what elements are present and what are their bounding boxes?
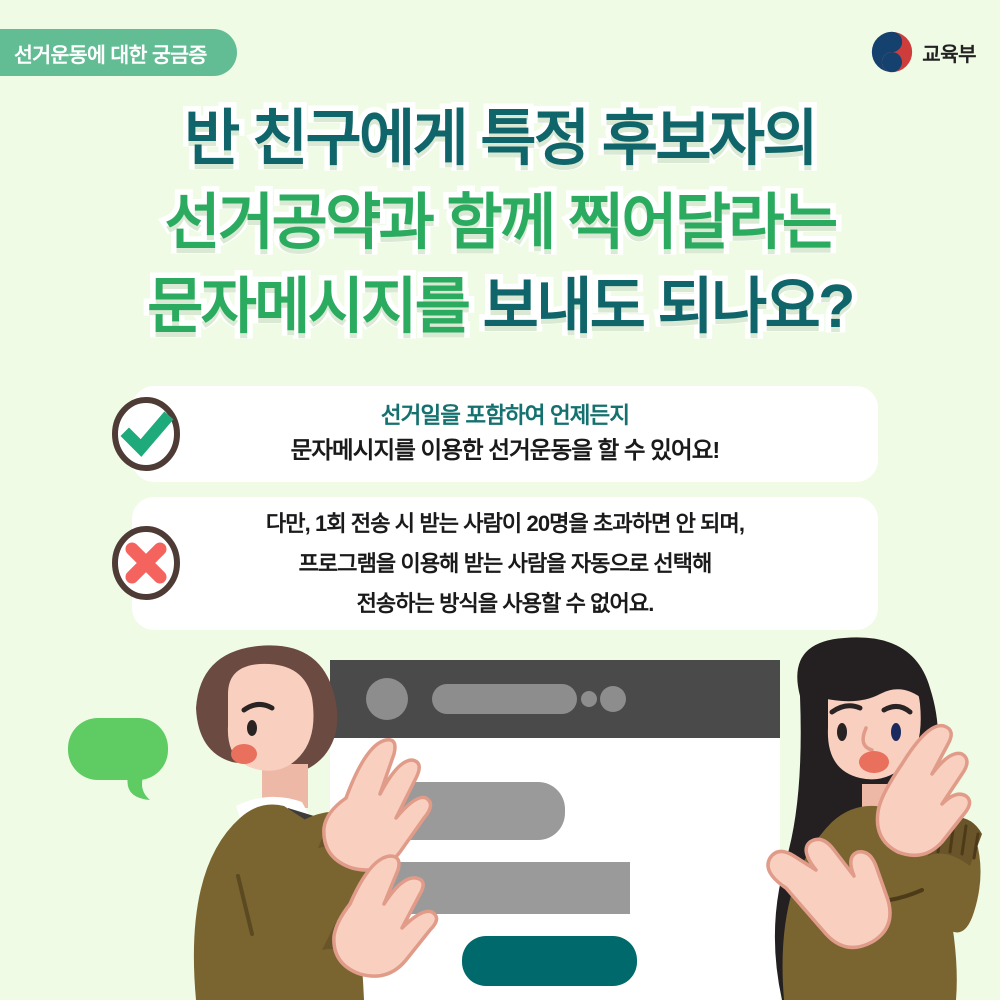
right-woman-eye-left [837, 723, 847, 741]
mockup-dot-small [581, 691, 597, 707]
left-woman-eye [247, 720, 257, 736]
illustration-two-women-whispering [0, 636, 1000, 1000]
allowed-card-body-line-1: 문자메시지를 이용한 선거운동을 할 수 있어요! [291, 432, 720, 468]
headline-line-1-text: 반 친구에게 특정 후보자의 [184, 104, 816, 172]
allowed-card-headline: 선거일을 포함하여 언제든지 [381, 400, 629, 432]
headline-line-3-green-text: 문자메시지를 [147, 272, 468, 340]
not-allowed-card-body-line-1: 다만, 1회 전송 시 받는 사람이 20명을 초과하면 안 되며, [266, 504, 744, 544]
check-mark-icon [110, 395, 182, 473]
right-woman-mouth [859, 751, 889, 773]
mockup-dot-large [600, 686, 626, 712]
headline-line-2-text: 선거공약과 함께 찍어달라는 [165, 188, 836, 256]
mockup-message-bubble-teal [462, 936, 637, 986]
category-badge: 선거운동에 대한 궁금증 [0, 29, 237, 76]
not-allowed-card-body-line-2: 프로그램을 이용해 받는 사람을 자동으로 선택해 [299, 544, 712, 584]
ministry-logo-label: 교육부 [922, 38, 976, 67]
right-woman-eye-right [891, 723, 901, 741]
not-allowed-card-body-line-3: 전송하는 방식을 사용할 수 없어요. [357, 584, 654, 624]
mockup-title-pill [432, 684, 577, 714]
page-title: 반 친구에게 특정 후보자의 선거공약과 함께 찍어달라는 문자메시지를 보내도… [0, 96, 1000, 348]
headline-line-2: 선거공약과 함께 찍어달라는 [0, 180, 1000, 264]
ministry-logo: 교육부 [871, 31, 976, 73]
left-woman-mouth [231, 744, 257, 764]
infographic-card: 선거운동에 대한 궁금증 교육부 반 친구에게 특정 후보자의 선거공약과 함께… [0, 0, 1000, 1000]
korean-government-taegeuk-icon [871, 31, 913, 73]
headline-line-3-dark-text: 보내도 되나요? [483, 272, 853, 340]
allowed-info-card: 선거일을 포함하여 언제든지 문자메시지를 이용한 선거운동을 할 수 있어요! [132, 386, 878, 482]
headline-line-3: 문자메시지를 보내도 되나요? [0, 264, 1000, 348]
mockup-avatar-circle [366, 678, 408, 720]
headline-line-1: 반 친구에게 특정 후보자의 [0, 96, 1000, 180]
not-allowed-info-card: 다만, 1회 전송 시 받는 사람이 20명을 초과하면 안 되며, 프로그램을… [132, 497, 878, 630]
cross-mark-icon [110, 524, 182, 602]
